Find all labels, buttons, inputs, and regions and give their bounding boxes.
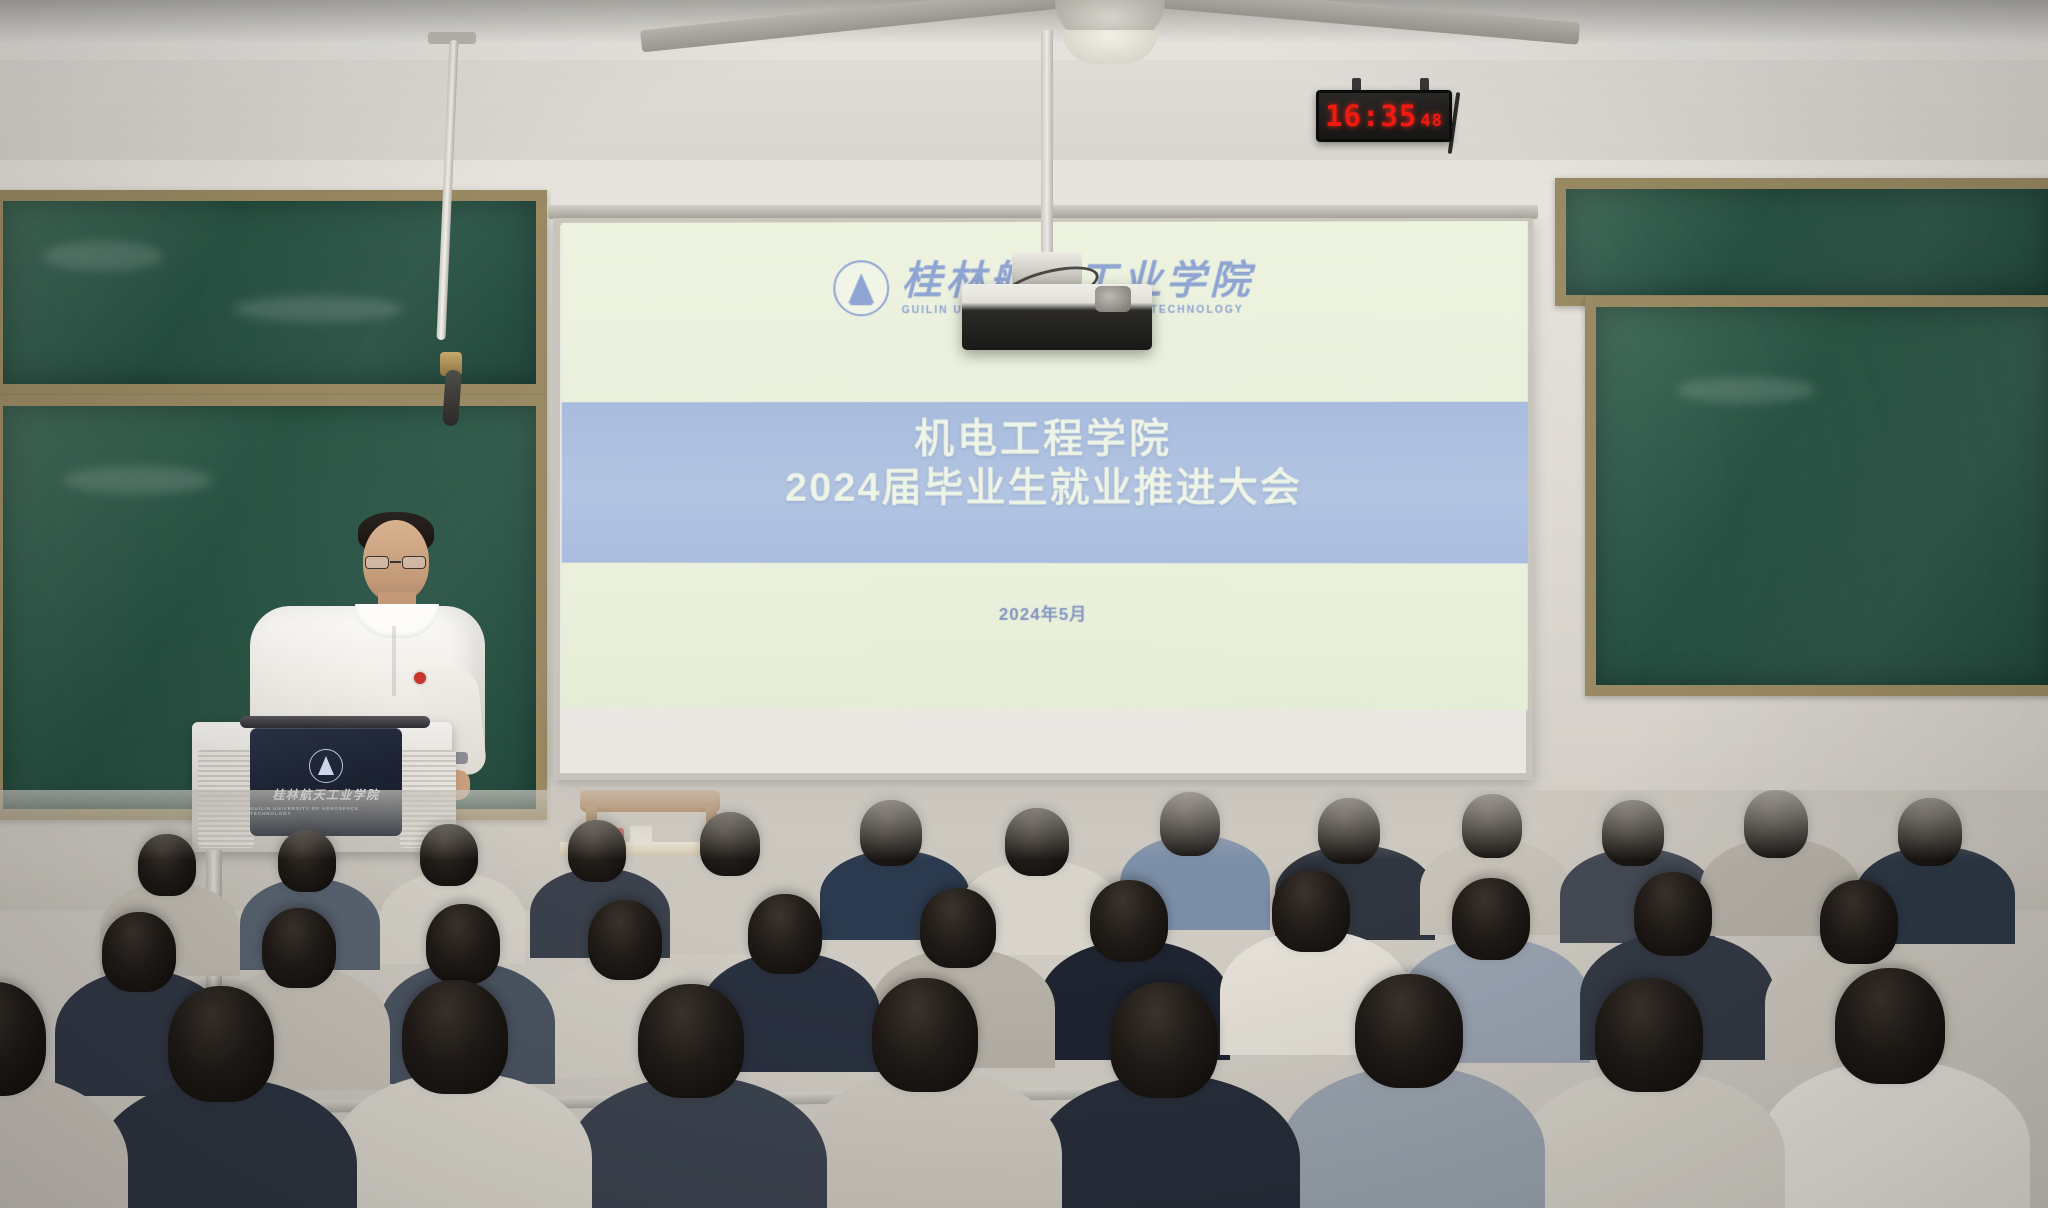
chalkboard-left-top [0, 190, 547, 395]
slide-band-bottom [562, 563, 1528, 710]
slide-date: 2024年5月 [562, 600, 1528, 626]
chalkboard-right-bottom [1585, 296, 2048, 696]
university-emblem-icon [833, 260, 889, 316]
podium-top-bar [240, 716, 430, 728]
glasses-icon [364, 556, 427, 569]
clock-seconds: 48 [1420, 111, 1442, 131]
classroom-scene: 16:35 48 桂林航天工业学院 GUILIN UNIVERSITY OF A… [0, 0, 2048, 1208]
wall-beige-band [0, 60, 2048, 170]
lapel-badge [414, 672, 426, 684]
wall-digital-clock: 16:35 48 [1316, 90, 1452, 142]
clock-hours-minutes: 16:35 [1325, 99, 1417, 133]
slide-title-line-1: 机电工程学院 [562, 415, 1528, 464]
slide-title-line-2: 2024届毕业生就业推进大会 [562, 464, 1528, 513]
chalkboard-right-top [1555, 178, 2048, 306]
slide-title-block: 机电工程学院 2024届毕业生就业推进大会 [562, 415, 1528, 513]
podium-emblem-icon [309, 749, 343, 783]
audience-seating-area [0, 790, 2048, 1208]
